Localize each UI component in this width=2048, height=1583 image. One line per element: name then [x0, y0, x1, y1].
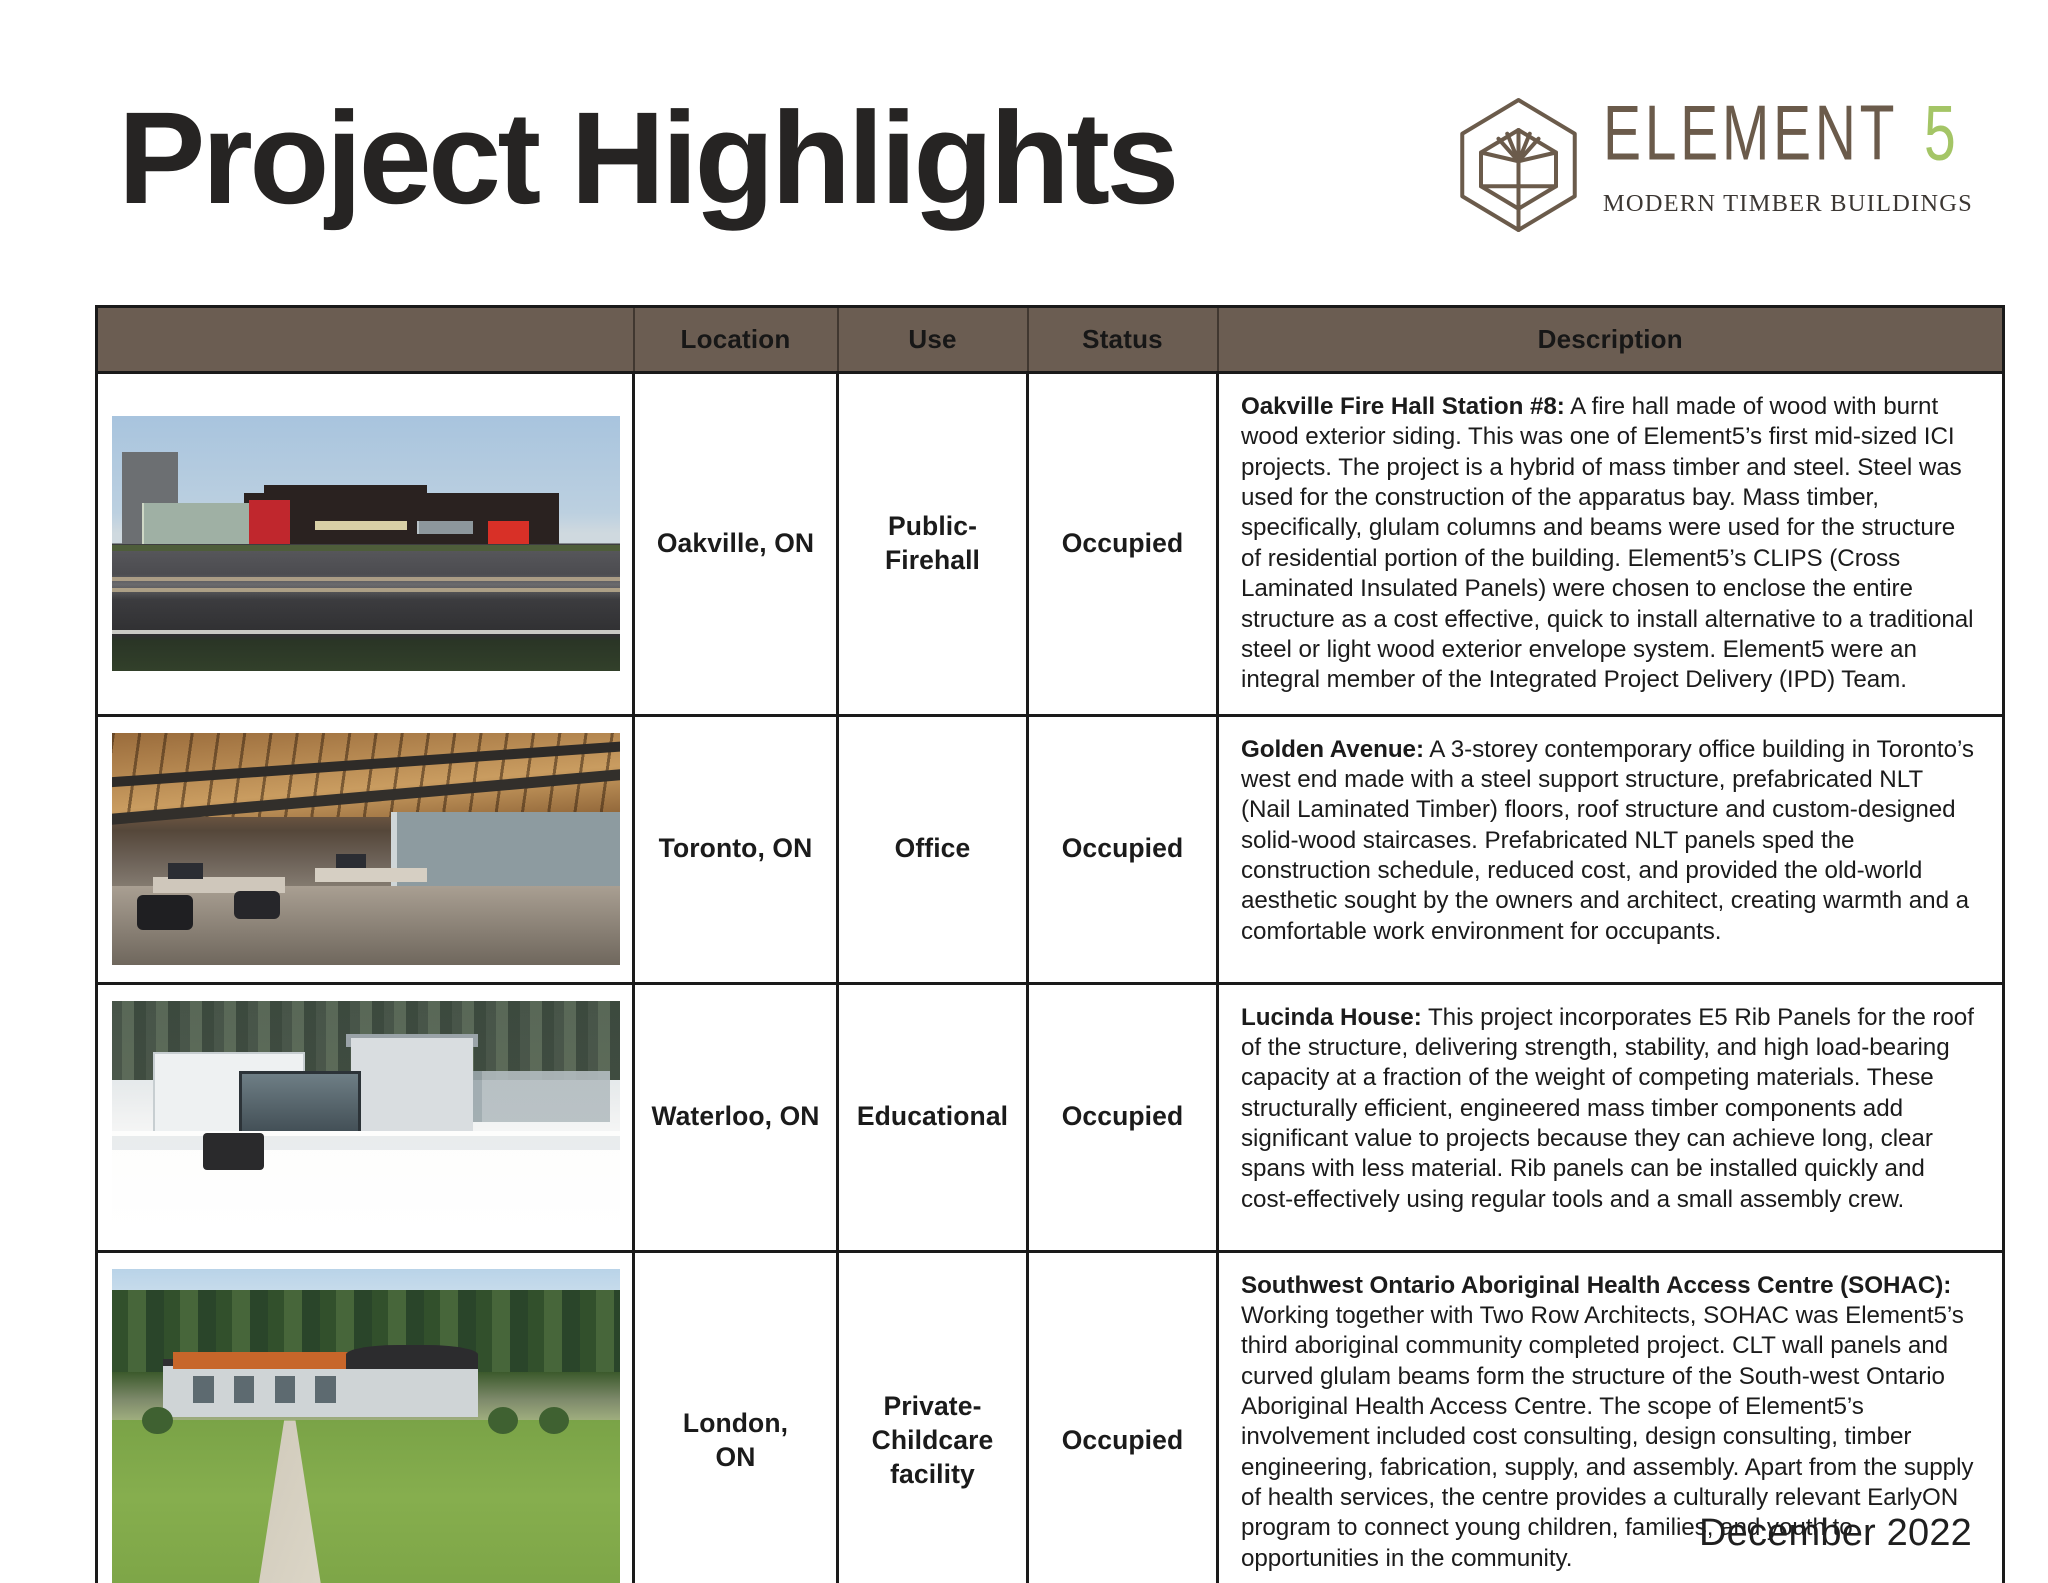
cell-description: Oakville Fire Hall Station #8: A fire ha… [1218, 373, 2004, 716]
cell-use: Public- Firehall [838, 373, 1028, 716]
cell-location: London, ON [634, 1251, 838, 1583]
timber-hexagon-tree-icon [1456, 96, 1581, 234]
projects-table-wrapper: Location Use Status Description [95, 305, 2002, 1583]
column-header-use: Use [838, 307, 1028, 373]
table-row: Waterloo, ON Educational Occupied Lucind… [97, 983, 2004, 1251]
project-description: A 3-storey contemporary office building … [1241, 736, 1974, 945]
brand-tagline: MODERN TIMBER BUILDINGS [1603, 190, 1973, 218]
brand-wordmark-main: ELEMENT [1603, 95, 1898, 173]
project-description: This project incorporates E5 Rib Panels … [1241, 1004, 1974, 1213]
document-header: Project Highlights [0, 0, 2048, 296]
cell-status: Occupied [1028, 983, 1218, 1251]
table-row: Oakville, ON Public- Firehall Occupied O… [97, 373, 2004, 716]
project-photo-lucinda-house [112, 1001, 620, 1233]
project-photo-golden-avenue [112, 733, 620, 965]
cell-use: Educational [838, 983, 1028, 1251]
page-title: Project Highlights [118, 92, 1176, 223]
brand-wordmark: ELEMENT 5 [1603, 111, 1962, 173]
footer-date: December 2022 [1699, 1512, 1972, 1555]
cell-use: Office [838, 715, 1028, 983]
cell-description: Golden Avenue: A 3-storey contemporary o… [1218, 715, 2004, 983]
project-photo-oakville-firehall [112, 416, 620, 671]
cell-location: Toronto, ON [634, 715, 838, 983]
project-photo-sohac [112, 1269, 620, 1583]
column-header-status: Status [1028, 307, 1218, 373]
project-photo-cell [97, 1251, 634, 1583]
project-description: A fire hall made of wood with burnt wood… [1241, 393, 1974, 693]
project-photo-cell [97, 715, 634, 983]
cell-status: Occupied [1028, 1251, 1218, 1583]
column-header-location: Location [634, 307, 838, 373]
document-page: Project Highlights [0, 0, 2048, 1583]
projects-table: Location Use Status Description [95, 305, 2005, 1583]
cell-use: Private- Childcare facility [838, 1251, 1028, 1583]
element5-logo: ELEMENT 5 MODERN TIMBER BUILDINGS [1456, 96, 1973, 234]
cell-status: Occupied [1028, 715, 1218, 983]
cell-description: Lucinda House: This project incorporates… [1218, 983, 2004, 1251]
column-header-description: Description [1218, 307, 2004, 373]
cell-location: Waterloo, ON [634, 983, 838, 1251]
project-name: Golden Avenue: [1241, 736, 1424, 763]
brand-text-block: ELEMENT 5 MODERN TIMBER BUILDINGS [1603, 111, 1973, 220]
cell-status: Occupied [1028, 373, 1218, 716]
project-photo-cell [97, 373, 634, 716]
table-header-row: Location Use Status Description [97, 307, 2004, 373]
project-name: Oakville Fire Hall Station #8: [1241, 393, 1565, 420]
brand-wordmark-number: 5 [1924, 95, 1959, 173]
project-name: Lucinda House: [1241, 1004, 1422, 1031]
column-header-photo [97, 307, 634, 373]
project-photo-cell [97, 983, 634, 1251]
project-name: Southwest Ontario Aboriginal Health Acce… [1241, 1272, 1951, 1299]
cell-location: Oakville, ON [634, 373, 838, 716]
table-row: Toronto, ON Office Occupied Golden Avenu… [97, 715, 2004, 983]
